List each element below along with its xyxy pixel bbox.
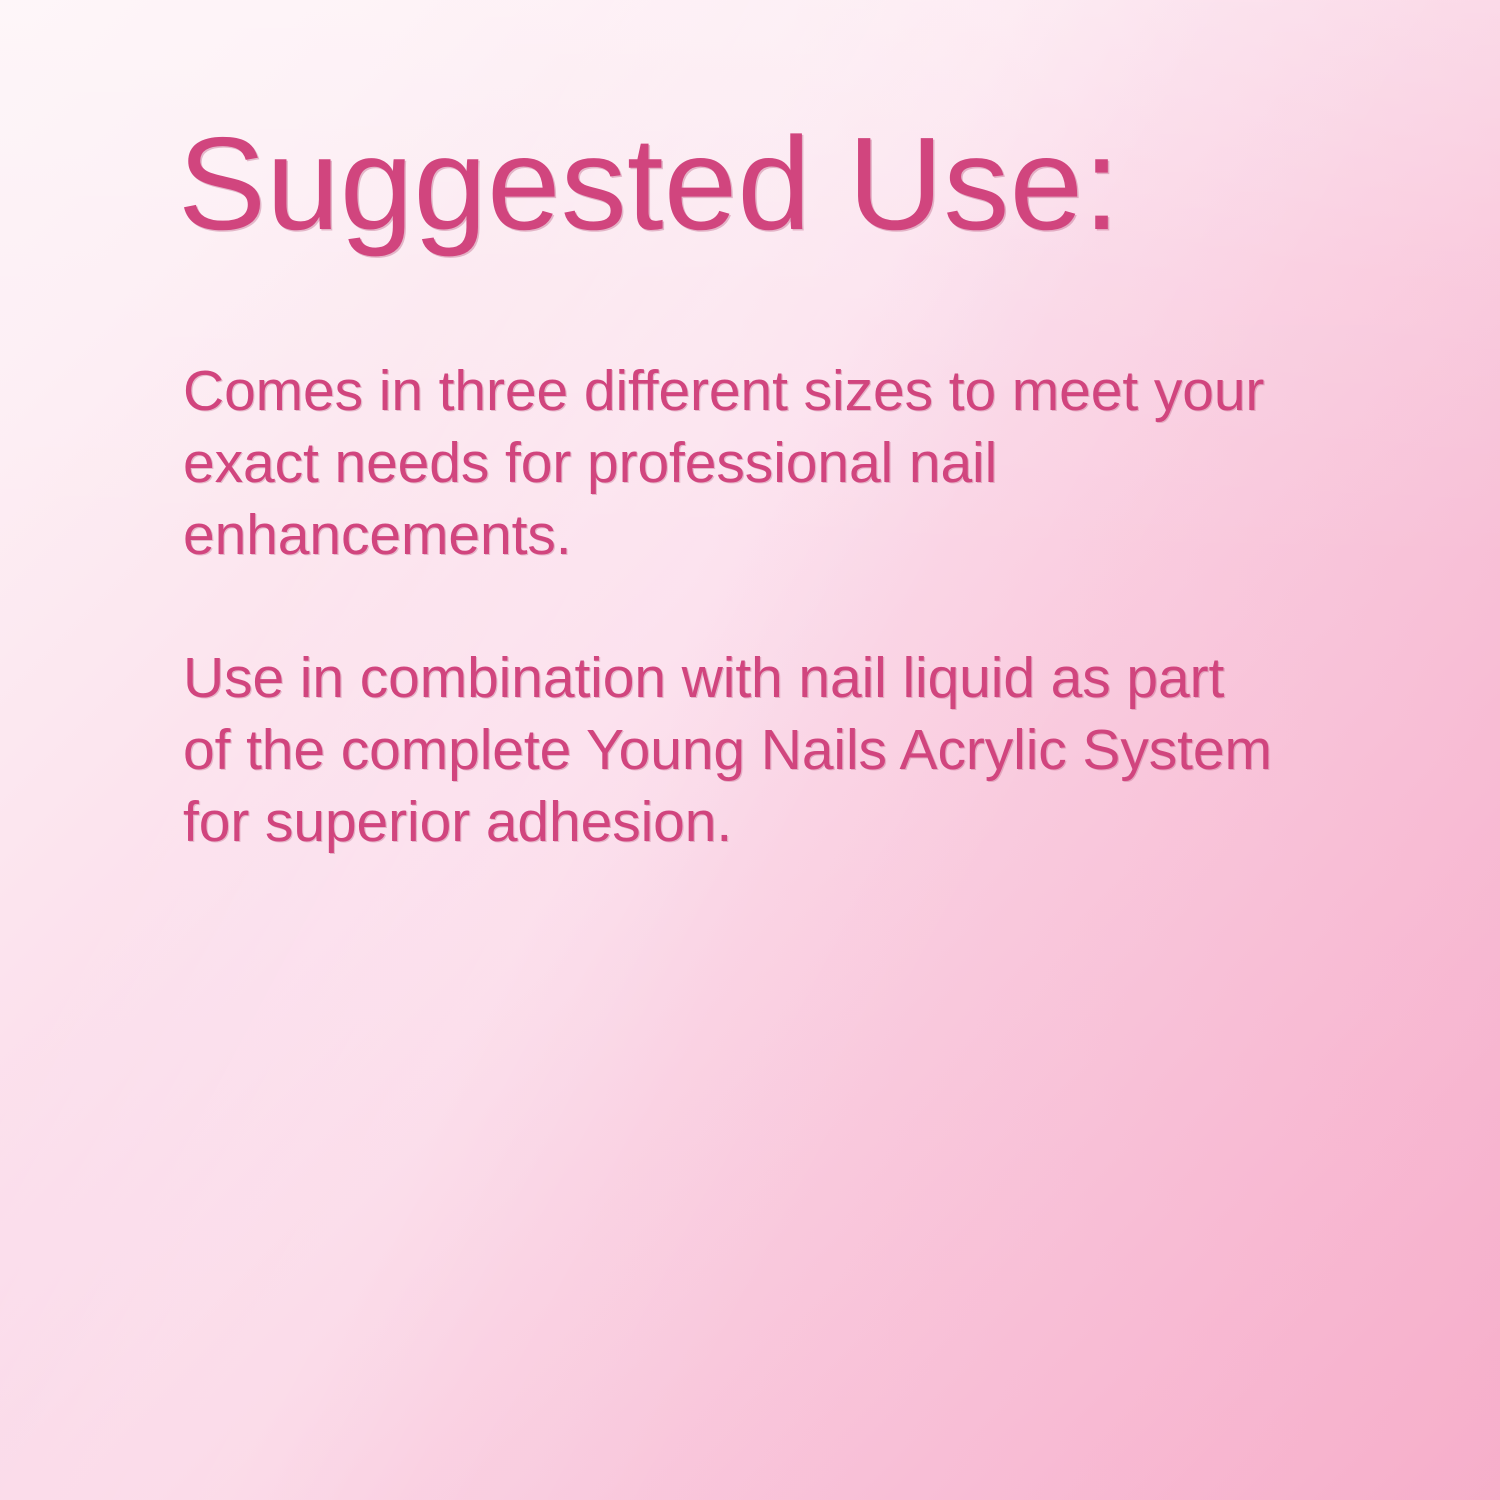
paragraph-usage: Use in combination with nail liquid as p… [183,642,1283,858]
body-text-block: Comes in three different sizes to meet y… [183,355,1283,858]
suggested-use-card: Suggested Use: Comes in three different … [0,0,1500,1500]
paragraph-sizes: Comes in three different sizes to meet y… [183,355,1283,571]
page-title: Suggested Use: [178,118,1120,250]
